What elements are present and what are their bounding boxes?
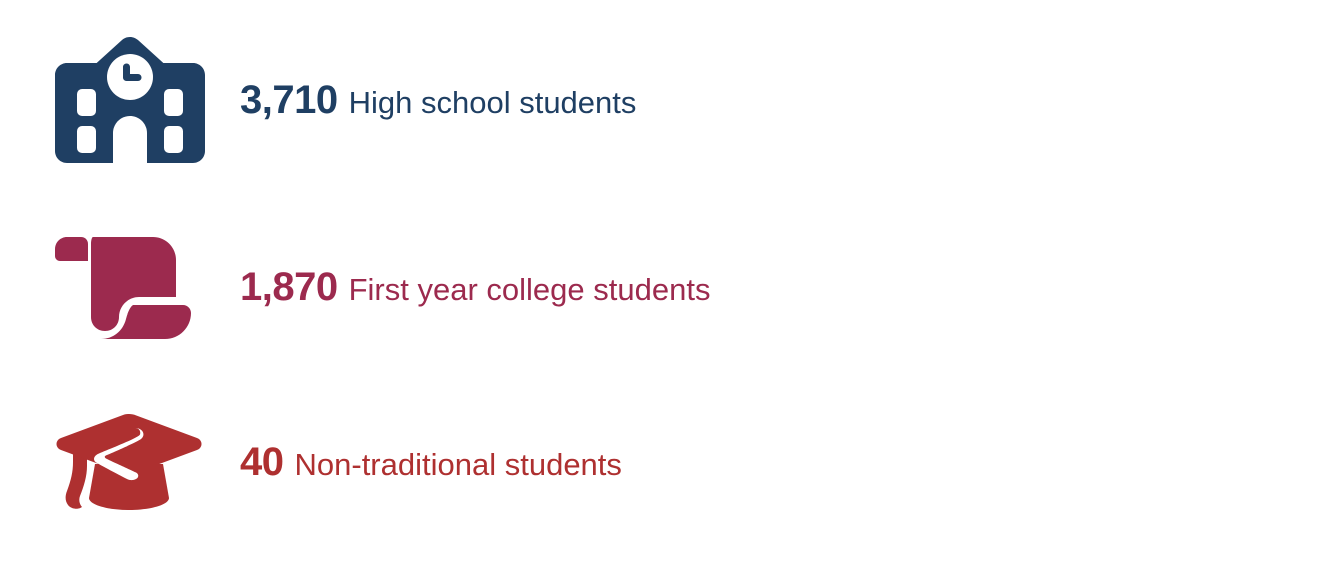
statistics-infographic: 3,710 High school students 1,870 First y…	[0, 0, 1344, 576]
stat-value: 40	[240, 442, 284, 482]
school-building-icon	[0, 25, 205, 175]
stat-row-high-school: 3,710 High school students	[0, 25, 636, 175]
stat-value: 3,710	[240, 80, 338, 120]
diploma-scroll-icon	[0, 212, 205, 362]
stat-text-high-school: 3,710 High school students	[240, 80, 636, 120]
stat-text-first-year-college: 1,870 First year college students	[240, 267, 710, 307]
stat-value: 1,870	[240, 267, 338, 307]
stat-label: High school students	[349, 87, 637, 118]
stat-row-non-traditional: 40 Non-traditional students	[0, 387, 622, 537]
stat-text-non-traditional: 40 Non-traditional students	[240, 442, 622, 482]
graduation-cap-icon	[0, 387, 205, 537]
stat-row-first-year-college: 1,870 First year college students	[0, 212, 710, 362]
stat-label: First year college students	[349, 274, 711, 305]
stat-label: Non-traditional students	[295, 449, 622, 480]
